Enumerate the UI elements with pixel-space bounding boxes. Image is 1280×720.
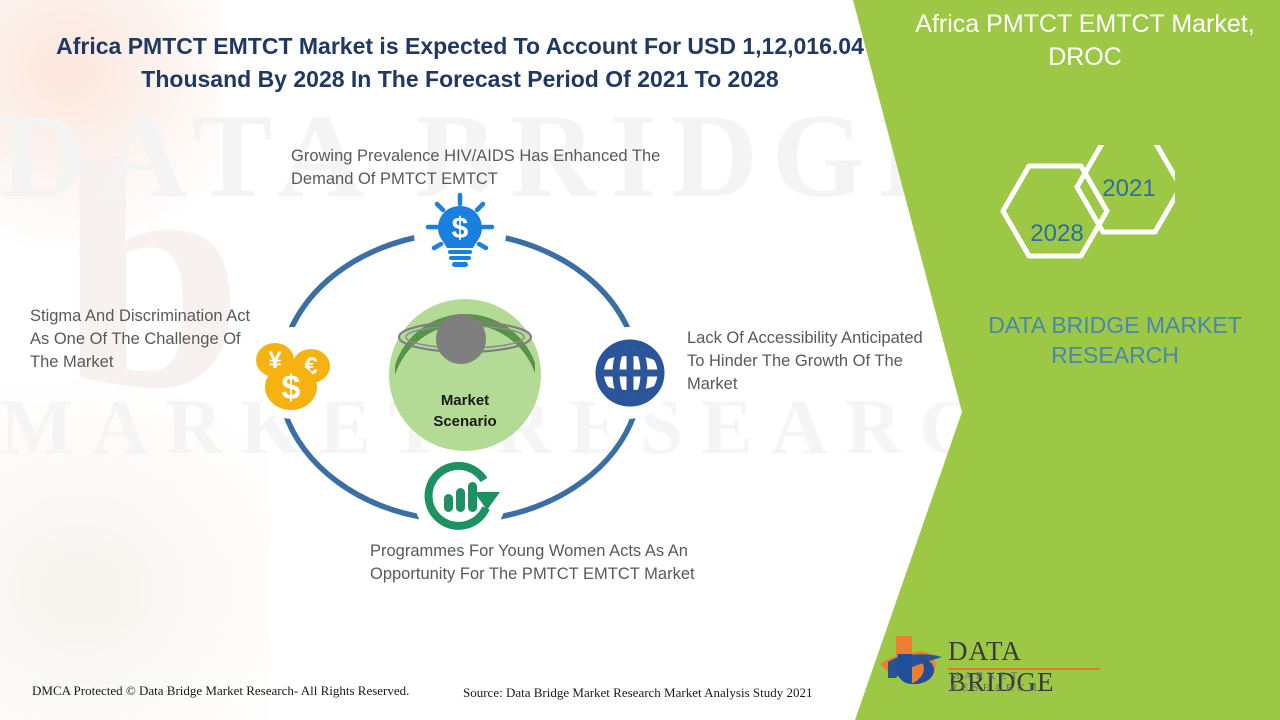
logo-mark-icon [878, 632, 948, 690]
infographic-slide: b DATA BRIDGE MARKET RESEARCH Africa PMT… [0, 0, 1280, 720]
svg-text:$: $ [282, 369, 301, 407]
logo-subtitle: MARKET RESEARCH [950, 670, 1118, 694]
hexagon-2028-label: 2028 [1030, 220, 1084, 248]
footer-source: Source: Data Bridge Market Research Mark… [463, 685, 812, 701]
lightbulb-dollar-icon: $ [412, 185, 508, 281]
opportunity-text-bottom: Programmes For Young Women Acts As An Op… [370, 540, 730, 586]
node-bottom [412, 450, 508, 546]
hexagon-group: 2028 2021 [985, 145, 1175, 295]
restraint-text-left: Stigma And Discrimination Act As One Of … [30, 305, 260, 374]
node-right [580, 325, 676, 421]
brand-name: DATA BRIDGE MARKET RESEARCH [955, 310, 1275, 370]
center-label-line-2: Scenario [433, 413, 496, 430]
company-logo: DATA BRIDGE MARKET RESEARCH [878, 632, 1118, 694]
center-label-line-1: Market [441, 392, 489, 409]
panel-title: Africa PMTCT EMTCT Market, DROC [905, 8, 1265, 74]
hexagon-2021-label: 2021 [1102, 175, 1156, 203]
node-top: $ [412, 185, 508, 281]
challenge-text-right: Lack Of Accessibility Anticipated To Hin… [687, 327, 937, 396]
driver-text-top: Growing Prevalence HIV/AIDS Has Enhanced… [291, 145, 721, 191]
droc-diagram: Market Scenario $ [235, 195, 685, 555]
page-title: Africa PMTCT EMTCT Market is Expected To… [40, 30, 880, 96]
market-scenario-label: Market Scenario [385, 390, 545, 432]
decorative-blob-bottom-left [0, 380, 270, 720]
svg-text:$: $ [452, 212, 469, 245]
globe-icon [580, 325, 676, 421]
watermark-mark: b [60, 110, 244, 440]
footer-copyright: DMCA Protected © Data Bridge Market Rese… [32, 683, 409, 699]
growth-cycle-icon [412, 450, 508, 546]
